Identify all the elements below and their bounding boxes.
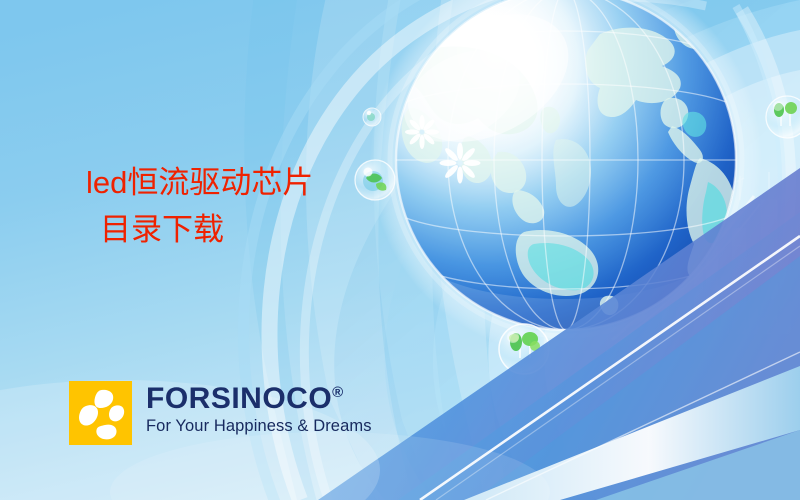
bubble-with-globe bbox=[355, 160, 395, 200]
registered-trademark-icon: ® bbox=[332, 384, 344, 401]
slide-canvas: led恒流驱动芯片 目录下载 FORSINOCO® For Your Happi… bbox=[0, 0, 800, 500]
pinwheel-flower-icon bbox=[69, 381, 132, 445]
logo-text-block: FORSINOCO® For Your Happiness & Dreams bbox=[146, 381, 372, 435]
company-logo: FORSINOCO® For Your Happiness & Dreams bbox=[69, 381, 372, 445]
logo-mark-icon bbox=[69, 381, 132, 445]
headline-text: led恒流驱动芯片 目录下载 bbox=[86, 163, 313, 249]
headline-line-2: 目录下载 bbox=[86, 210, 313, 250]
flower-upper bbox=[405, 115, 439, 149]
headline-line-1: led恒流驱动芯片 bbox=[86, 163, 313, 203]
bubble-small-top bbox=[363, 108, 381, 126]
logo-wordmark-text: FORSINOCO bbox=[146, 382, 332, 415]
logo-tagline: For Your Happiness & Dreams bbox=[146, 418, 372, 435]
logo-wordmark: FORSINOCO® bbox=[146, 384, 372, 414]
flower-lower bbox=[440, 143, 481, 184]
